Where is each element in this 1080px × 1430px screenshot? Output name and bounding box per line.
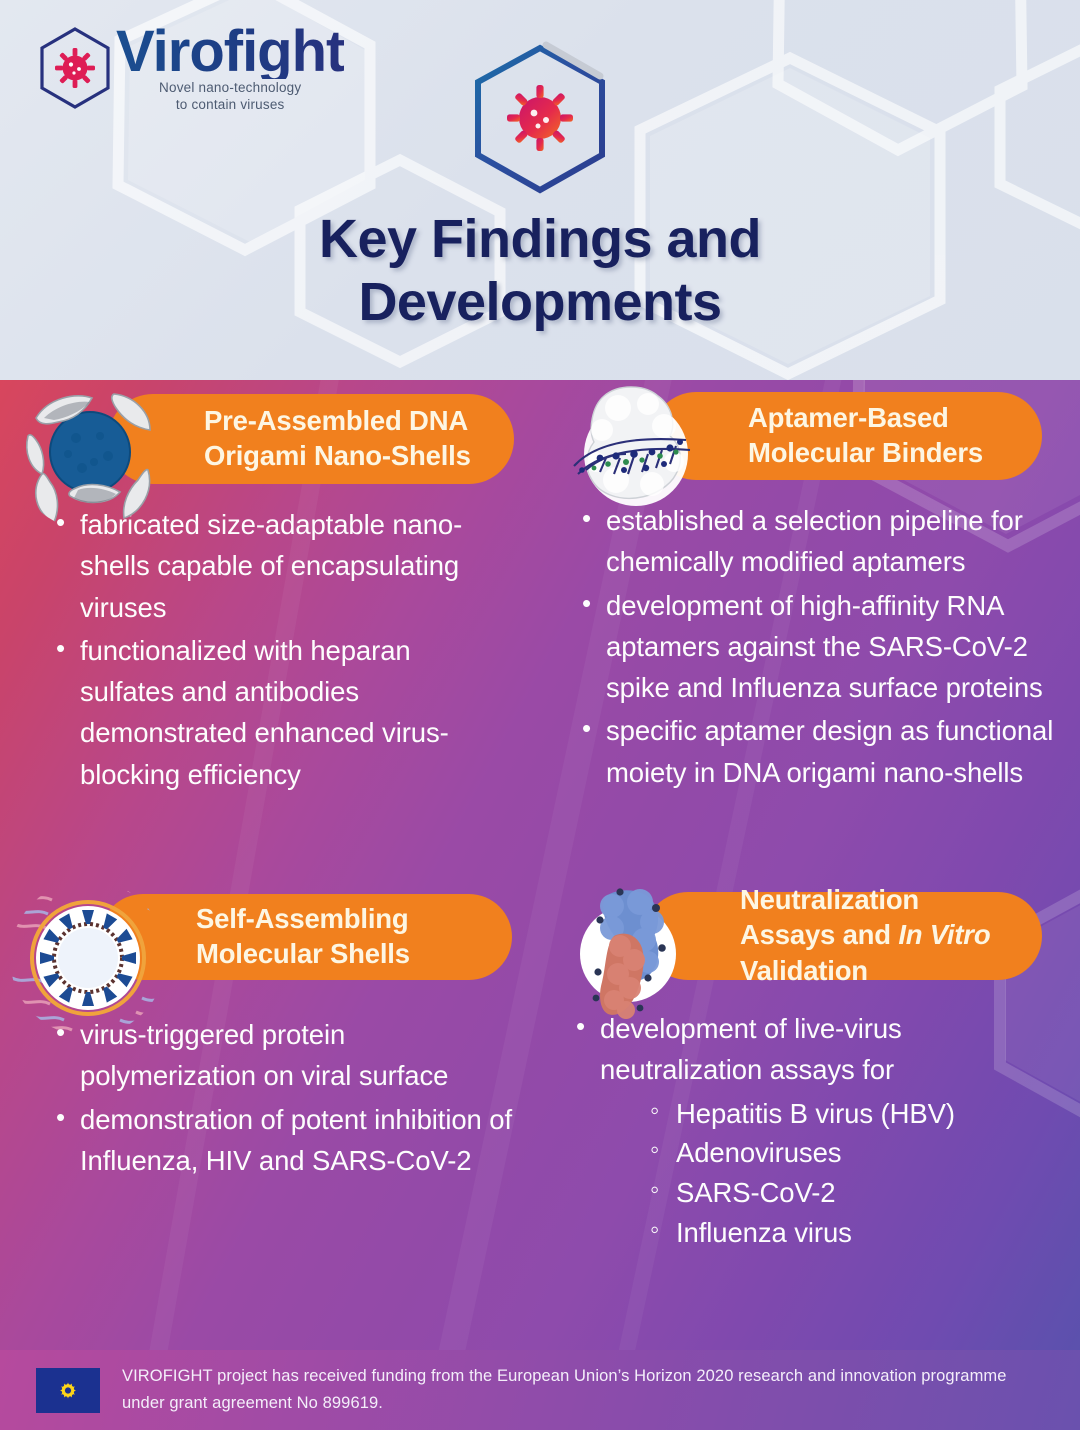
card-bullet-list: established a selection pipeline for che…: [552, 500, 1080, 793]
logo-wordmark: Virofight: [116, 24, 344, 79]
funding-text-line1: VIROFIGHT project has received funding f…: [122, 1363, 1007, 1390]
list-item: specific aptamer design as functional mo…: [572, 710, 1068, 793]
page-title: Key Findings and Developments: [0, 208, 1080, 333]
header-banner: Virofight Novel nano-technology to conta…: [0, 0, 1080, 380]
card-title: Aptamer-Based Molecular Binders: [748, 400, 1016, 470]
funding-text: VIROFIGHT project has received funding f…: [122, 1363, 1007, 1417]
card-title-part1: Neutralization Assays and: [740, 884, 919, 950]
card-title: Neutralization Assays and In Vitro Valid…: [740, 882, 1016, 988]
logo-tagline-line1: Novel nano-technology: [159, 80, 301, 97]
findings-grid: Pre-Assembled DNA Origami Nano-Shells fa…: [0, 380, 1080, 1350]
list-item: demonstration of potent inhibition of In…: [46, 1099, 522, 1182]
logo-tagline: Novel nano-technology to contain viruses: [159, 80, 301, 114]
card-pre-assembled-dna-origami-nano-shells: Pre-Assembled DNA Origami Nano-Shells fa…: [0, 380, 552, 880]
funding-text-line2: under grant agreement No 899619.: [122, 1390, 1007, 1417]
logo[interactable]: Virofight Novel nano-technology to conta…: [36, 24, 344, 114]
card-header: Neutralization Assays and In Vitro Valid…: [552, 880, 1080, 992]
card-bullet-list: virus-triggered protein polymerization o…: [0, 1014, 552, 1181]
card-title-part2: Validation: [740, 955, 868, 986]
card-bullet-list: fabricated size-adaptable nano-shells ca…: [0, 504, 552, 795]
card-aptamer-based-molecular-binders: Aptamer-Based Molecular Binders establis…: [552, 380, 1080, 880]
card-title: Self-Assembling Molecular Shells: [196, 901, 486, 971]
funding-bar: VIROFIGHT project has received funding f…: [0, 1350, 1080, 1430]
virus-icon: [55, 48, 95, 88]
molecular-shell-ring-icon: [10, 880, 166, 1036]
logo-tagline-line2: to contain viruses: [159, 97, 301, 114]
list-item: Adenoviruses: [644, 1133, 1060, 1173]
eu-flag-icon: [36, 1368, 100, 1413]
spike-protein-icon: [556, 882, 706, 1034]
card-header: Self-Assembling Molecular Shells: [0, 880, 552, 992]
card-title: Pre-Assembled DNA Origami Nano-Shells: [204, 403, 488, 473]
findings-section: Pre-Assembled DNA Origami Nano-Shells fa…: [0, 380, 1080, 1350]
aptamer-protein-complex-icon: [560, 380, 710, 530]
list-item: Influenza virus: [644, 1213, 1060, 1253]
card-sub-bullet-list: Hepatitis B virus (HBV) Adenoviruses SAR…: [600, 1094, 1060, 1254]
card-bullet-list: development of live-virus neutralization…: [552, 1008, 1080, 1253]
hexagon-virus-icon: [467, 40, 613, 200]
list-item: SARS-CoV-2: [644, 1173, 1060, 1213]
card-self-assembling-molecular-shells: Self-Assembling Molecular Shells virus-t…: [0, 880, 552, 1350]
page-title-line2: Developments: [0, 271, 1080, 334]
card-title-pill: Pre-Assembled DNA Origami Nano-Shells: [108, 394, 514, 484]
list-item: development of high-affinity RNA aptamer…: [572, 585, 1068, 709]
list-item: Hepatitis B virus (HBV): [644, 1094, 1060, 1134]
hexagon-outline-icon: [36, 26, 114, 112]
card-title-italic: In Vitro: [898, 919, 990, 950]
card-title-pill: Aptamer-Based Molecular Binders: [652, 392, 1042, 480]
dna-origami-nanoshell-icon: [14, 380, 166, 530]
card-header: Aptamer-Based Molecular Binders: [552, 380, 1080, 492]
list-item: development of live-virus neutralization…: [566, 1008, 1060, 1253]
card-neutralization-assays-and-in-vitro-validation: Neutralization Assays and In Vitro Valid…: [552, 880, 1080, 1350]
page-title-line1: Key Findings and: [0, 208, 1080, 271]
list-item: functionalized with heparan sulfates and…: [46, 630, 510, 795]
card-header: Pre-Assembled DNA Origami Nano-Shells: [0, 380, 552, 492]
